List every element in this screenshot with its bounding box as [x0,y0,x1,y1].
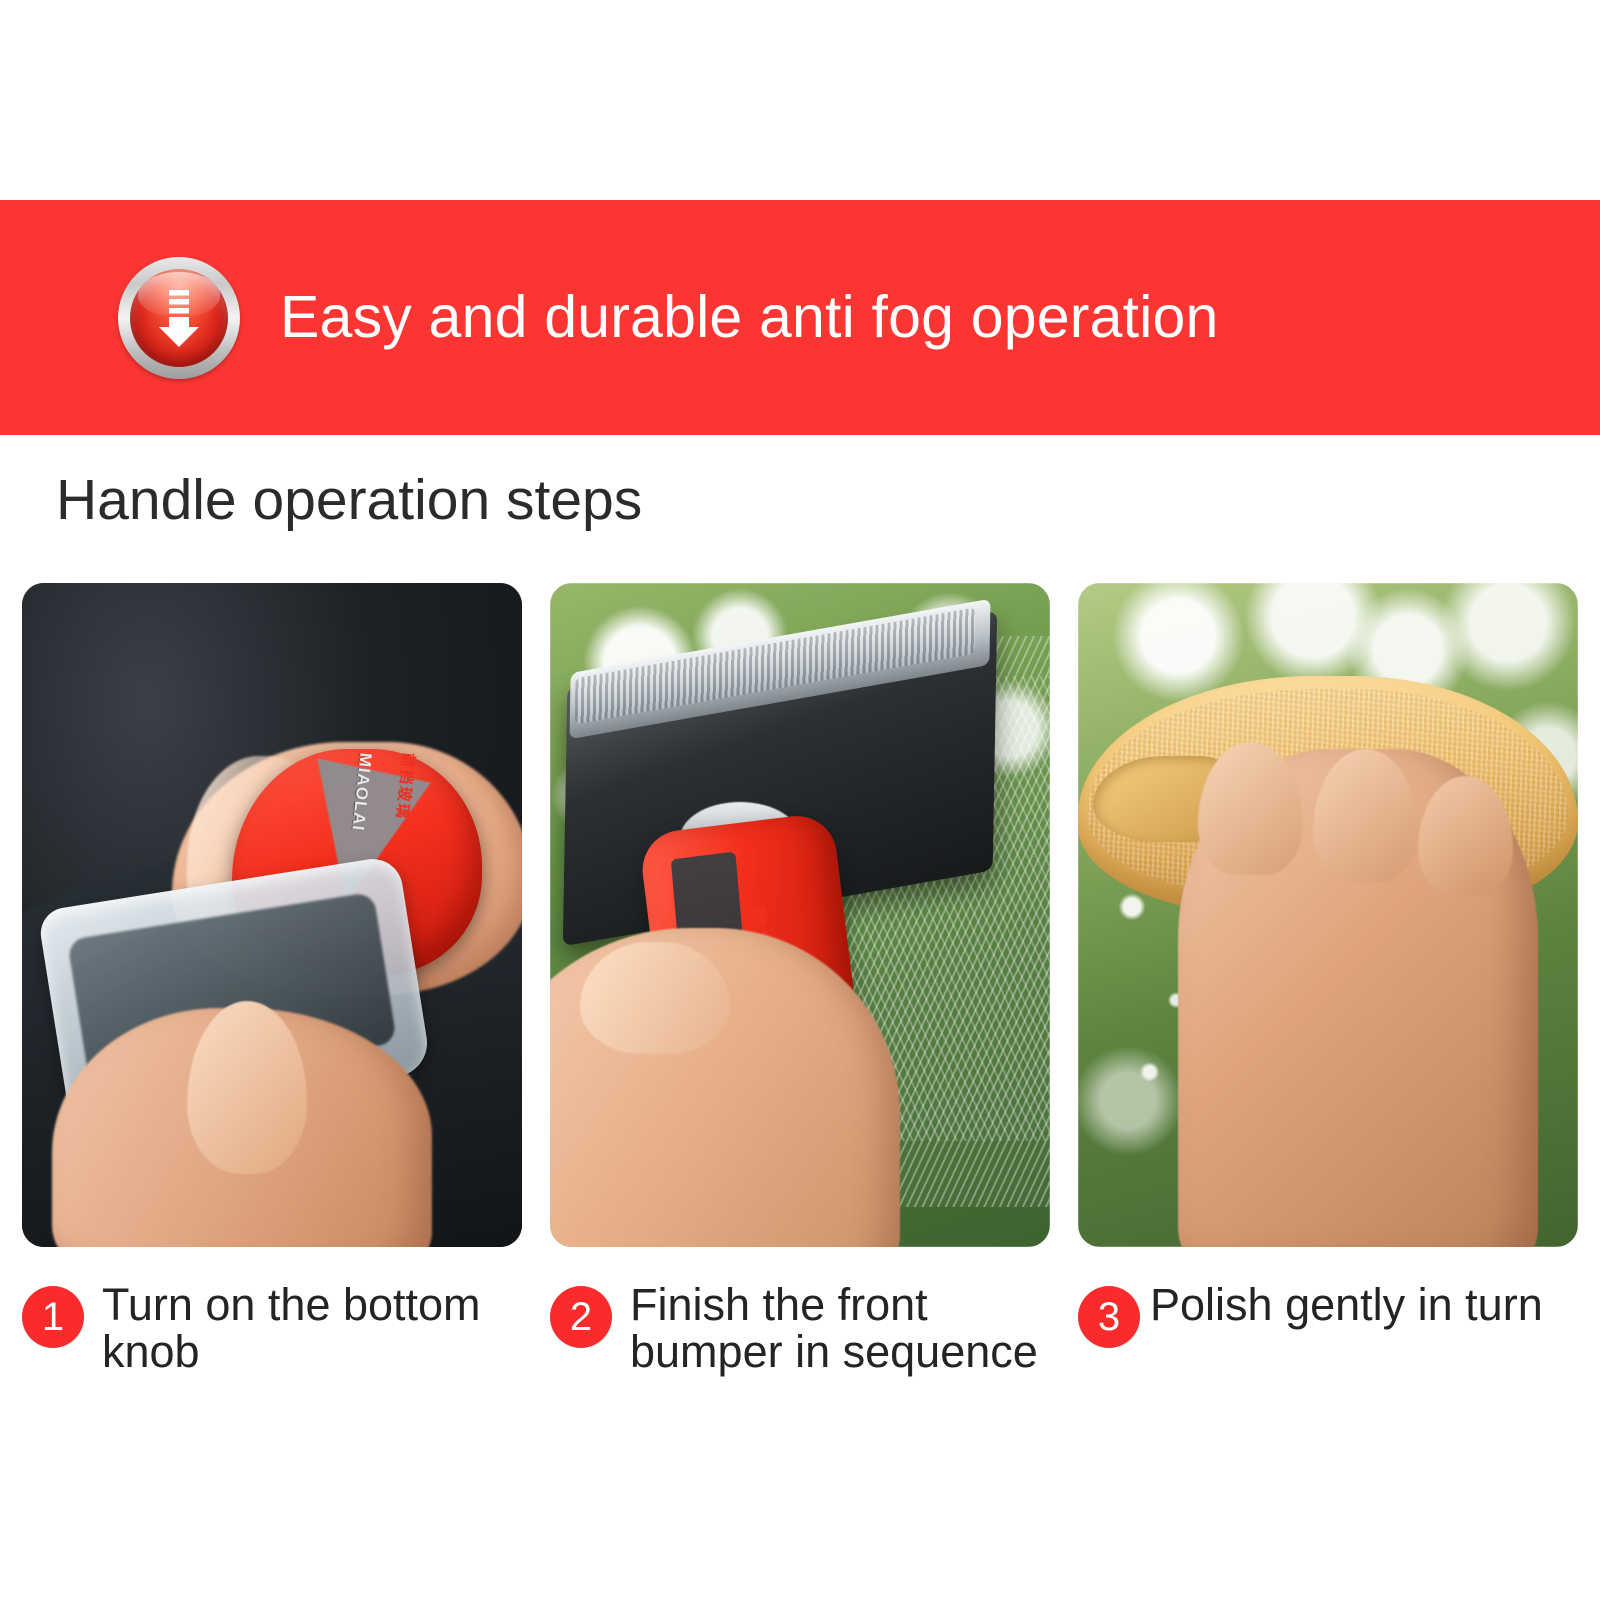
photo2-thumb [580,942,730,1055]
step-caption-1: 1 Turn on the bottom knob [22,1282,522,1376]
photo-polish-gently [1078,583,1578,1247]
caption-row: 1 Turn on the bottom knob 2 Finish the f… [22,1282,1578,1376]
step-caption-text-3: Polish gently in turn [1150,1282,1543,1329]
step-caption-3: 3 Polish gently in turn [1078,1282,1578,1376]
photo-finish-front-bumper: MIAOLAI 防雾 [550,583,1050,1247]
photo-row: MIAOLAI 前挡玻璃 MIAOLAI 防雾 [22,583,1578,1247]
banner-title: Easy and durable anti fog operation [280,288,1219,347]
step-caption-text-1: Turn on the bottom knob [102,1282,522,1376]
download-icon-disc [130,269,228,367]
step-caption-2: 2 Finish the front bumper in sequence [550,1282,1050,1376]
arrow-down-glyph [152,285,206,351]
photo-turn-on-bottom-knob: MIAOLAI 前挡玻璃 [22,583,522,1247]
banner: Easy and durable anti fog operation [0,200,1600,435]
step-caption-text-2: Finish the front bumper in sequence [630,1282,1050,1376]
step-badge-1: 1 [22,1286,84,1348]
step-badge-3: 3 [1078,1286,1140,1348]
step-badge-2: 2 [550,1286,612,1348]
download-arrow-icon [118,257,240,379]
page-title: Handle operation steps [56,472,642,529]
banner-inner: Easy and durable anti fog operation [0,257,1219,379]
